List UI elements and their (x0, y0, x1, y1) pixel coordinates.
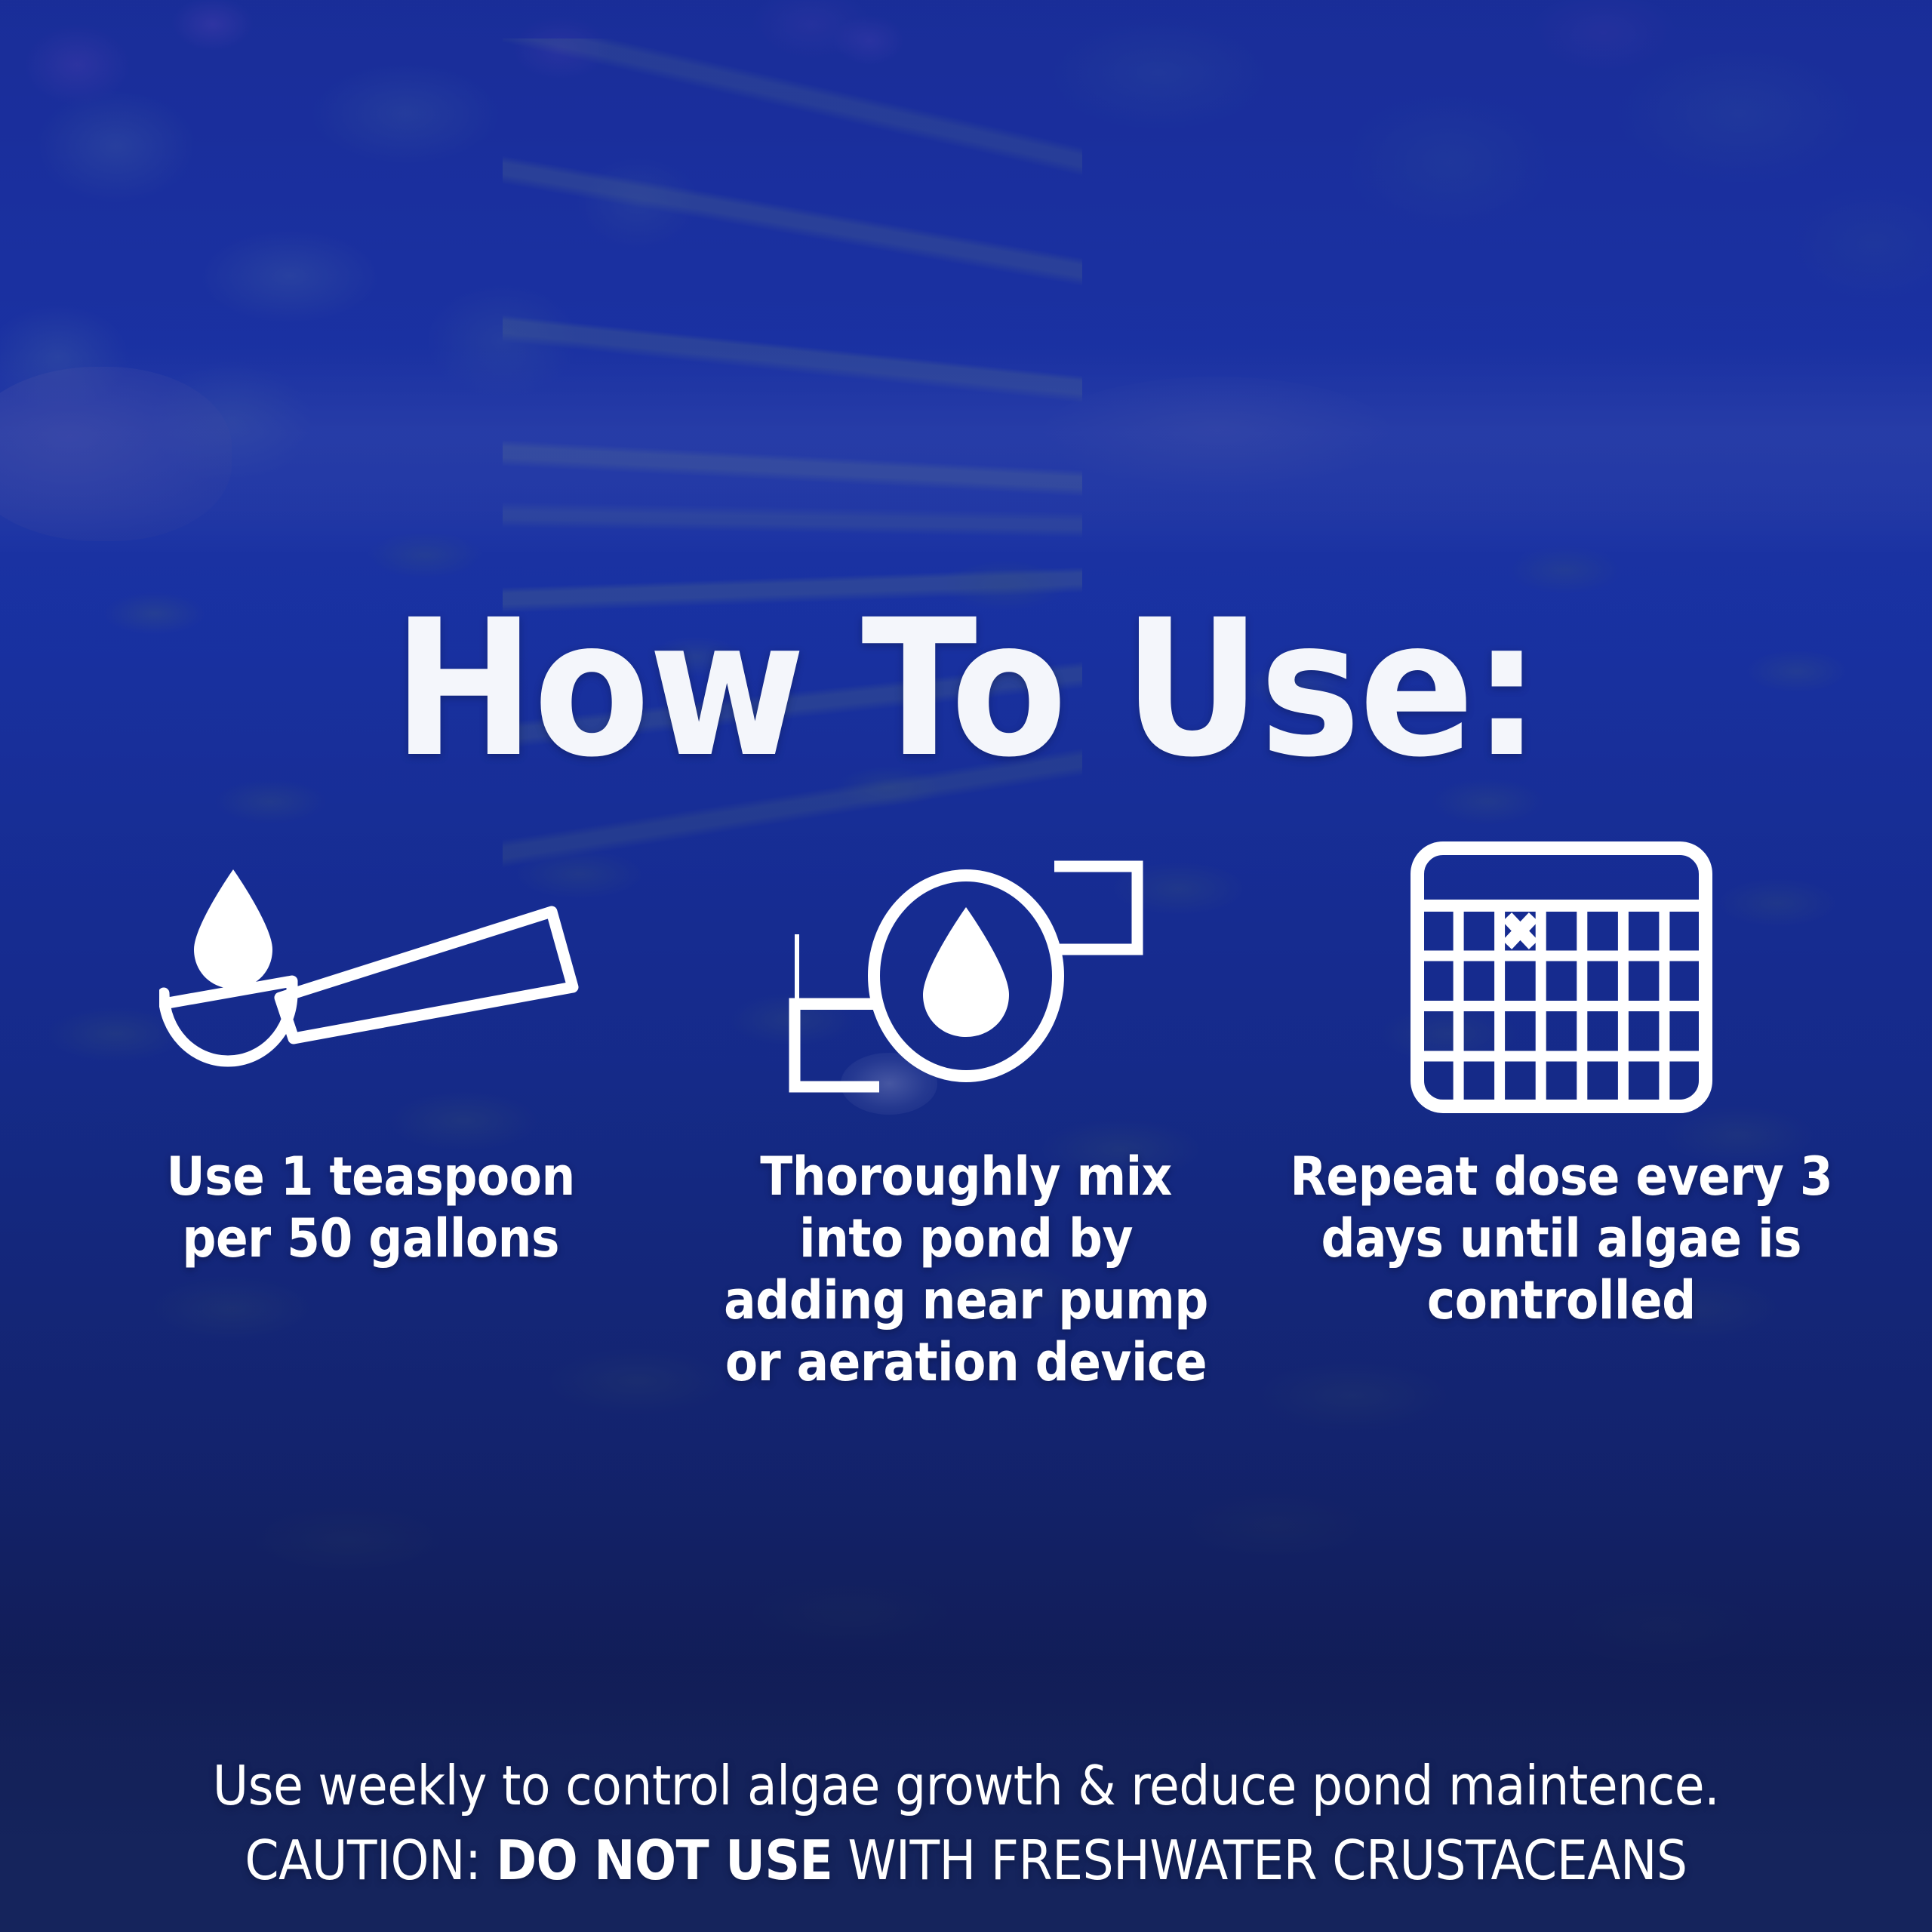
step-1-caption: Use 1 teaspoon per 50 gallons (167, 1146, 575, 1270)
step-2: Thoroughly mix into pond by adding near … (686, 826, 1246, 1394)
step-3-icon-wrap (1411, 826, 1712, 1128)
step-2-icon-wrap (789, 826, 1143, 1128)
teaspoon-droplet-icon (159, 853, 582, 1102)
calendar-x-icon (1411, 841, 1712, 1113)
caution-prefix: CAUTION: (245, 1829, 496, 1892)
caution-suffix: WITH FRESHWATER CRUSTACEANS (832, 1829, 1687, 1892)
step-1-icon-wrap (159, 826, 582, 1128)
step-3-caption: Repeat dose every 3 days until algae is … (1290, 1146, 1832, 1332)
step-3: Repeat dose every 3 days until algae is … (1281, 826, 1841, 1332)
footer-usage-note: Use weekly to control algae growth & red… (0, 1753, 1932, 1818)
footer-caution-note: CAUTION: DO NOT USE WITH FRESHWATER CRUS… (0, 1828, 1932, 1893)
page-title: How To Use: (0, 595, 1932, 783)
how-to-use-infographic: How To Use: Use 1 teaspoon per 50 gallon… (0, 0, 1932, 1932)
caution-emphasis: DO NOT USE (496, 1829, 832, 1892)
footer-notes: Use weekly to control algae growth & red… (0, 1753, 1932, 1893)
pump-pipe-droplet-icon (789, 853, 1143, 1102)
steps-row: Use 1 teaspoon per 50 gallons (0, 826, 1932, 1394)
step-2-caption: Thoroughly mix into pond by adding near … (724, 1146, 1208, 1394)
step-1: Use 1 teaspoon per 50 gallons (91, 826, 651, 1270)
